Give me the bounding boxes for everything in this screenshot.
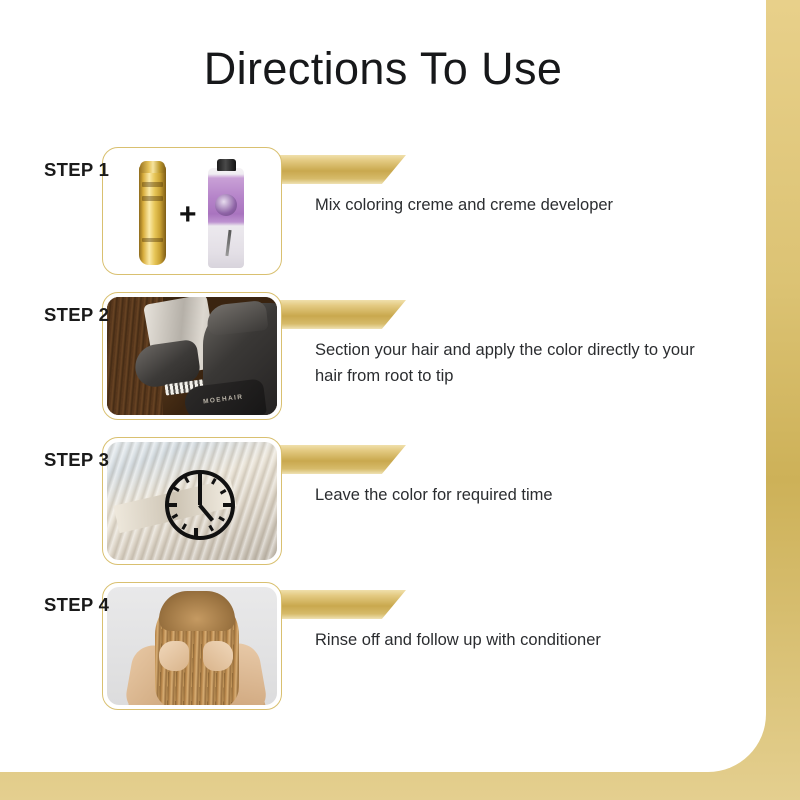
clock-tick — [219, 489, 226, 495]
bottle-cap — [217, 159, 236, 171]
plus-icon: + — [179, 200, 197, 230]
left-hand-graphic — [159, 641, 189, 671]
clock-icon — [165, 470, 235, 540]
glove-fingers-graphic — [206, 300, 269, 336]
bottle-wand-graphic — [225, 230, 231, 256]
step-1-image-card: + — [102, 147, 282, 275]
bottle-graphic — [215, 194, 237, 216]
step-1-banner — [272, 155, 406, 184]
step-4-text: Rinse off and follow up with conditioner — [315, 627, 705, 653]
step-row-2: MOEHAIR STEP 2 Section your hair and app… — [0, 287, 766, 432]
step-1-image: + — [107, 152, 277, 270]
step-3-label: STEP 3 — [44, 449, 109, 471]
page-title: Directions To Use — [0, 43, 766, 95]
hair-crown-graphic — [159, 591, 235, 631]
step-2-label: STEP 2 — [44, 304, 109, 326]
step-4-image-card — [102, 582, 282, 710]
clock-tick — [195, 528, 199, 536]
steps-list: + STEP 1 Mix coloring creme and creme de… — [0, 142, 766, 722]
step-row-1: + STEP 1 Mix coloring creme and creme de… — [0, 142, 766, 287]
step-2-text: Section your hair and apply the color di… — [315, 337, 705, 389]
step-3-image-card — [102, 437, 282, 565]
clock-tick — [223, 503, 231, 507]
step-4-label: STEP 4 — [44, 594, 109, 616]
step-2-image: MOEHAIR — [107, 297, 277, 415]
clock-tick — [171, 513, 178, 519]
step-3-text: Leave the color for required time — [315, 482, 705, 508]
step-row-3: STEP 3 Leave the color for required time — [0, 432, 766, 577]
step-1-text: Mix coloring creme and creme developer — [315, 192, 705, 218]
creme-developer-bottle-icon — [208, 168, 244, 268]
clock-tick — [211, 478, 217, 485]
bleached-hair-photo — [107, 442, 277, 560]
step-3-banner — [272, 445, 406, 474]
tube-label-line — [142, 182, 163, 187]
clock-minute-hand — [198, 479, 201, 505]
tube-cap — [140, 161, 165, 173]
clock-tick — [173, 486, 180, 492]
products-photo: + — [107, 152, 277, 270]
hair-color-tube-icon — [139, 165, 166, 265]
step-2-image-card: MOEHAIR — [102, 292, 282, 420]
clock-tick — [181, 523, 187, 530]
clock-hour-hand — [199, 504, 215, 522]
tube-label-line — [142, 238, 163, 242]
step-1-label: STEP 1 — [44, 159, 109, 181]
gloved-hands-photo: MOEHAIR — [107, 297, 277, 415]
step-row-4: STEP 4 Rinse off and follow up with cond… — [0, 577, 766, 722]
step-2-banner — [272, 300, 406, 329]
tube-label-line — [142, 196, 163, 201]
infographic-poster: Directions To Use + — [0, 0, 800, 800]
clock-tick — [169, 503, 177, 507]
step-4-image — [107, 587, 277, 705]
step-4-banner — [272, 590, 406, 619]
right-hand-graphic — [203, 641, 233, 671]
clock-tick — [184, 476, 190, 483]
step-3-image — [107, 442, 277, 560]
clock-tick — [218, 516, 225, 522]
clock-tick — [208, 524, 214, 531]
content-panel: Directions To Use + — [0, 0, 766, 772]
rinsing-hair-photo — [107, 587, 277, 705]
